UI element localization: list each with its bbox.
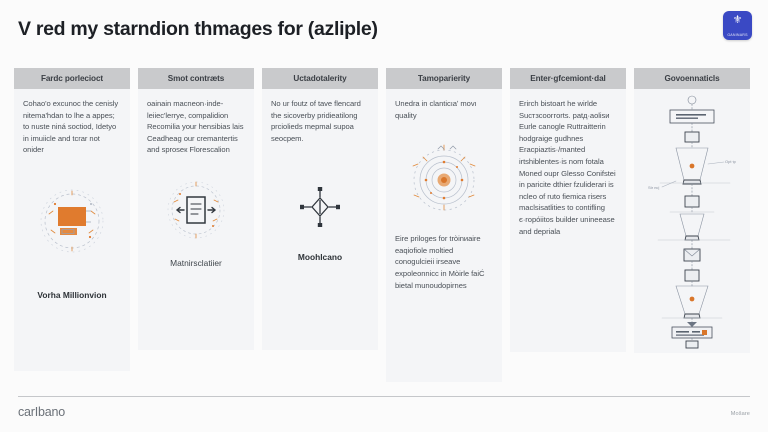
column-panel-3[interactable]: Uctadotalerity No ur foutz of tave flenc…: [262, 68, 378, 350]
brand-logo-label: GANINARS: [723, 33, 752, 37]
column-icon-2: [138, 174, 254, 246]
column-body-2: oainain macneon·inde-leiiec'lerrye, comp…: [138, 89, 254, 156]
column-header-3: Uctadotalerity: [262, 68, 378, 89]
column-icon-3: [262, 184, 378, 230]
column-body-4: Unedra in clanticıaʹ movı quality: [386, 89, 502, 121]
column-panel-4[interactable]: Tamoparierity Unedra in clanticıaʹ movı …: [386, 68, 502, 382]
column-grid: Fardc porlecioct Cohao'o excunoc the cen…: [14, 68, 754, 398]
column-caption-3: Moohlcano: [262, 252, 378, 264]
column-header-2: Smot contræts: [138, 68, 254, 89]
pipeline-flow-diagram: Opt·ір Str пс|: [640, 93, 744, 349]
brand-mark-icon: ⚜: [723, 14, 752, 26]
column-header-4: Tamoparierity: [386, 68, 502, 89]
column-text: No ur foutz of tave flencard the sicover…: [271, 98, 369, 144]
brand-logo[interactable]: ⚜ GANINARS: [723, 11, 752, 40]
column-icon-1: [14, 182, 130, 260]
column-header-6: Govoennaticls: [634, 68, 750, 89]
column-body-5: Erirch bistoart he wirlde Sucтзсooггоrts…: [510, 89, 626, 237]
page-title: V red my starndion thmages for (azliple): [18, 18, 378, 41]
column-icon-6: Opt·ір Str пс|: [634, 93, 750, 349]
slide-header: V red my starndion thmages for (azliple)…: [0, 0, 768, 62]
column-body-3: No ur foutz of tave flencard the sicover…: [262, 89, 378, 144]
column-caption-1: Vorha Millionvion: [14, 290, 130, 302]
footer-brand: carІbаno: [18, 405, 65, 419]
column-body-1: Cohao'o excunoc the cenisly nitema'hdan …: [14, 89, 130, 156]
compass-diamond-icon: [297, 184, 343, 230]
footer-note: Mošare: [731, 411, 750, 417]
column-header-5: Enter·gfcemiont·dal: [510, 68, 626, 89]
concentric-orbit-icon: [403, 139, 485, 221]
column-text: oainain macneon·inde-leiiec'lerrye, comp…: [147, 98, 245, 156]
column-header-label: Enter·gfcemiont·dal: [530, 74, 605, 83]
column-header-label: Tamoparierity: [418, 74, 470, 83]
column-panel-1[interactable]: Fardc porlecioct Cohao'o excunoc the cen…: [14, 68, 130, 371]
column-text: Erirch bistoart he wirlde Sucтзсooггоrts…: [519, 98, 617, 237]
column-panel-6[interactable]: Govoennaticls: [634, 68, 750, 353]
column-text: Cohao'o excunoc the cenisly nitema'hdan …: [23, 98, 121, 156]
column-text: Unedra in clanticıaʹ movı quality: [395, 98, 493, 121]
column-body-4-secondary: Еire priloges for tròinиaіre eaqiofiole …: [386, 221, 502, 291]
column-header-1: Fardc porlecioct: [14, 68, 130, 89]
column-header-label: Uctadotalerity: [293, 74, 346, 83]
column-header-label: Fardc porlecioct: [41, 74, 103, 83]
document-transfer-icon: [160, 174, 232, 246]
column-panel-2[interactable]: Smot contræts oainain macneon·inde-leiie…: [138, 68, 254, 350]
footer-divider: [18, 396, 750, 397]
diagram-side-label-left: Str пс|: [648, 185, 659, 190]
slide-canvas: V red my starndion thmages for (azliple)…: [0, 0, 768, 432]
column-icon-4: [386, 139, 502, 221]
monitor-screen-icon: [33, 182, 111, 260]
column-panel-5[interactable]: Enter·gfcemiont·dal Erirch bistoart he w…: [510, 68, 626, 352]
column-header-label: Smot contræts: [168, 74, 224, 83]
column-header-label: Govoennaticls: [664, 74, 719, 83]
column-text-secondary: Еire priloges for tròinиaіre eaqiofiole …: [395, 233, 493, 291]
diagram-side-label-right: Opt·ір: [725, 159, 737, 164]
column-caption-2: Matnirsclatiier: [138, 258, 254, 270]
